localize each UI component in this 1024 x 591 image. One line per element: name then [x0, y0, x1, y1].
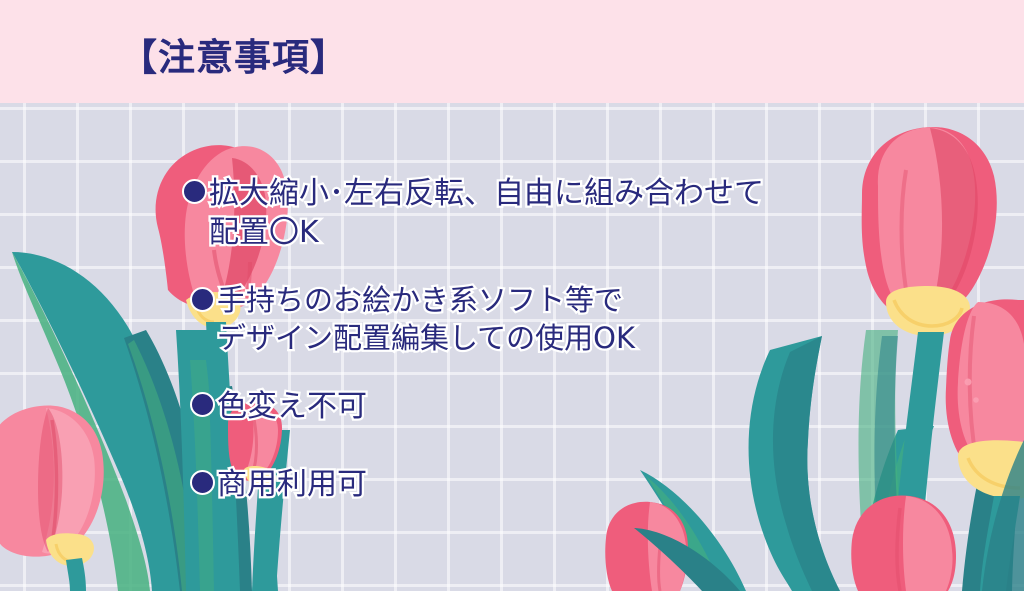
bullet-icon	[182, 179, 207, 204]
notice-item: 色変え不可	[190, 387, 367, 426]
bullet-icon	[190, 392, 215, 417]
notice-item-text: 商用利用可	[217, 465, 367, 504]
bullet-icon	[190, 470, 215, 495]
notice-item: 手持ちのお絵かき系ソフト等で デザイン配置編集しての使用OK	[190, 282, 635, 357]
page-title: 【注意事項】	[120, 35, 348, 81]
notice-item: 拡大縮小･左右反転、自由に組み合わせて 配置〇K	[182, 174, 764, 252]
notice-item-text: 色変え不可	[217, 387, 367, 426]
notice-item: 商用利用可	[190, 465, 367, 504]
notice-slide: 【注意事項】 拡大縮小･左右反転、自由に組み合わせて 配置〇K 手持ちのお絵かき…	[0, 0, 1024, 591]
bullet-icon	[190, 287, 215, 312]
notice-item-text: 拡大縮小･左右反転、自由に組み合わせて 配置〇K	[209, 174, 764, 252]
notice-item-text: 手持ちのお絵かき系ソフト等で デザイン配置編集しての使用OK	[217, 282, 635, 357]
